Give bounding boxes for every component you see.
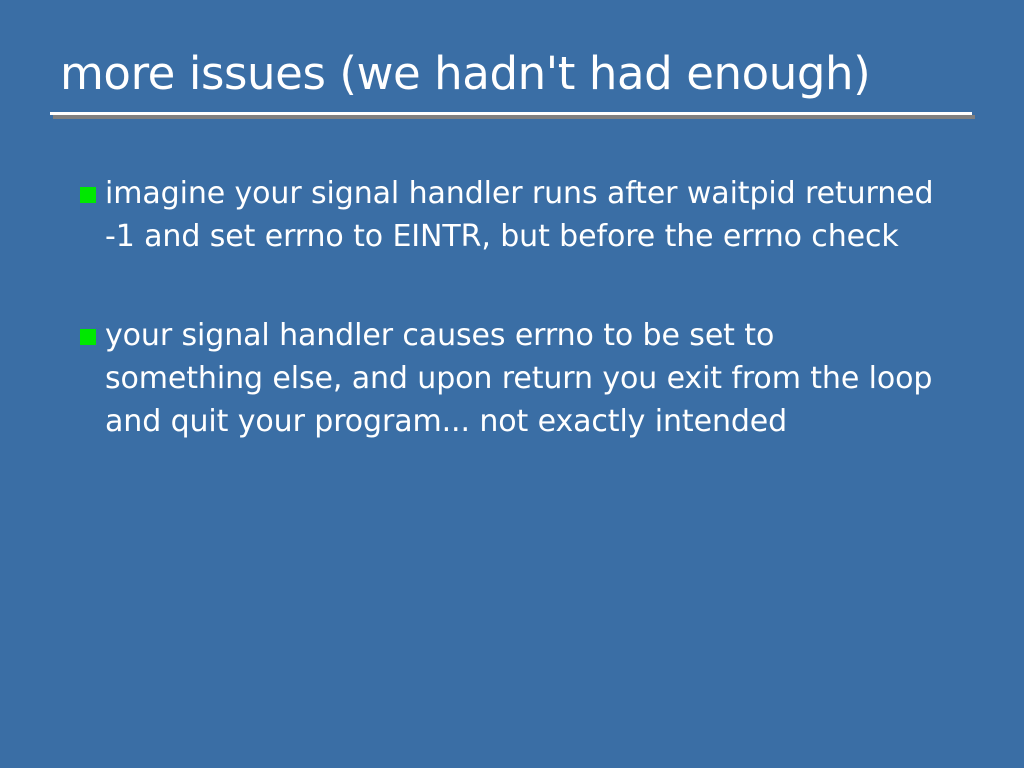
title-underline-shadow — [53, 115, 975, 119]
square-bullet-icon — [80, 187, 96, 203]
bullet-text: imagine your signal handler runs after w… — [105, 172, 935, 258]
bullet-text: your signal handler causes errno to be s… — [105, 314, 935, 443]
presentation-slide: more issues (we hadn't had enough) imagi… — [0, 0, 1024, 768]
square-bullet-icon — [80, 329, 96, 345]
slide-title: more issues (we hadn't had enough) — [60, 46, 990, 102]
bullet-item: your signal handler causes errno to be s… — [0, 314, 1024, 443]
slide-body: imagine your signal handler runs after w… — [0, 172, 1024, 499]
bullet-item: imagine your signal handler runs after w… — [0, 172, 1024, 258]
